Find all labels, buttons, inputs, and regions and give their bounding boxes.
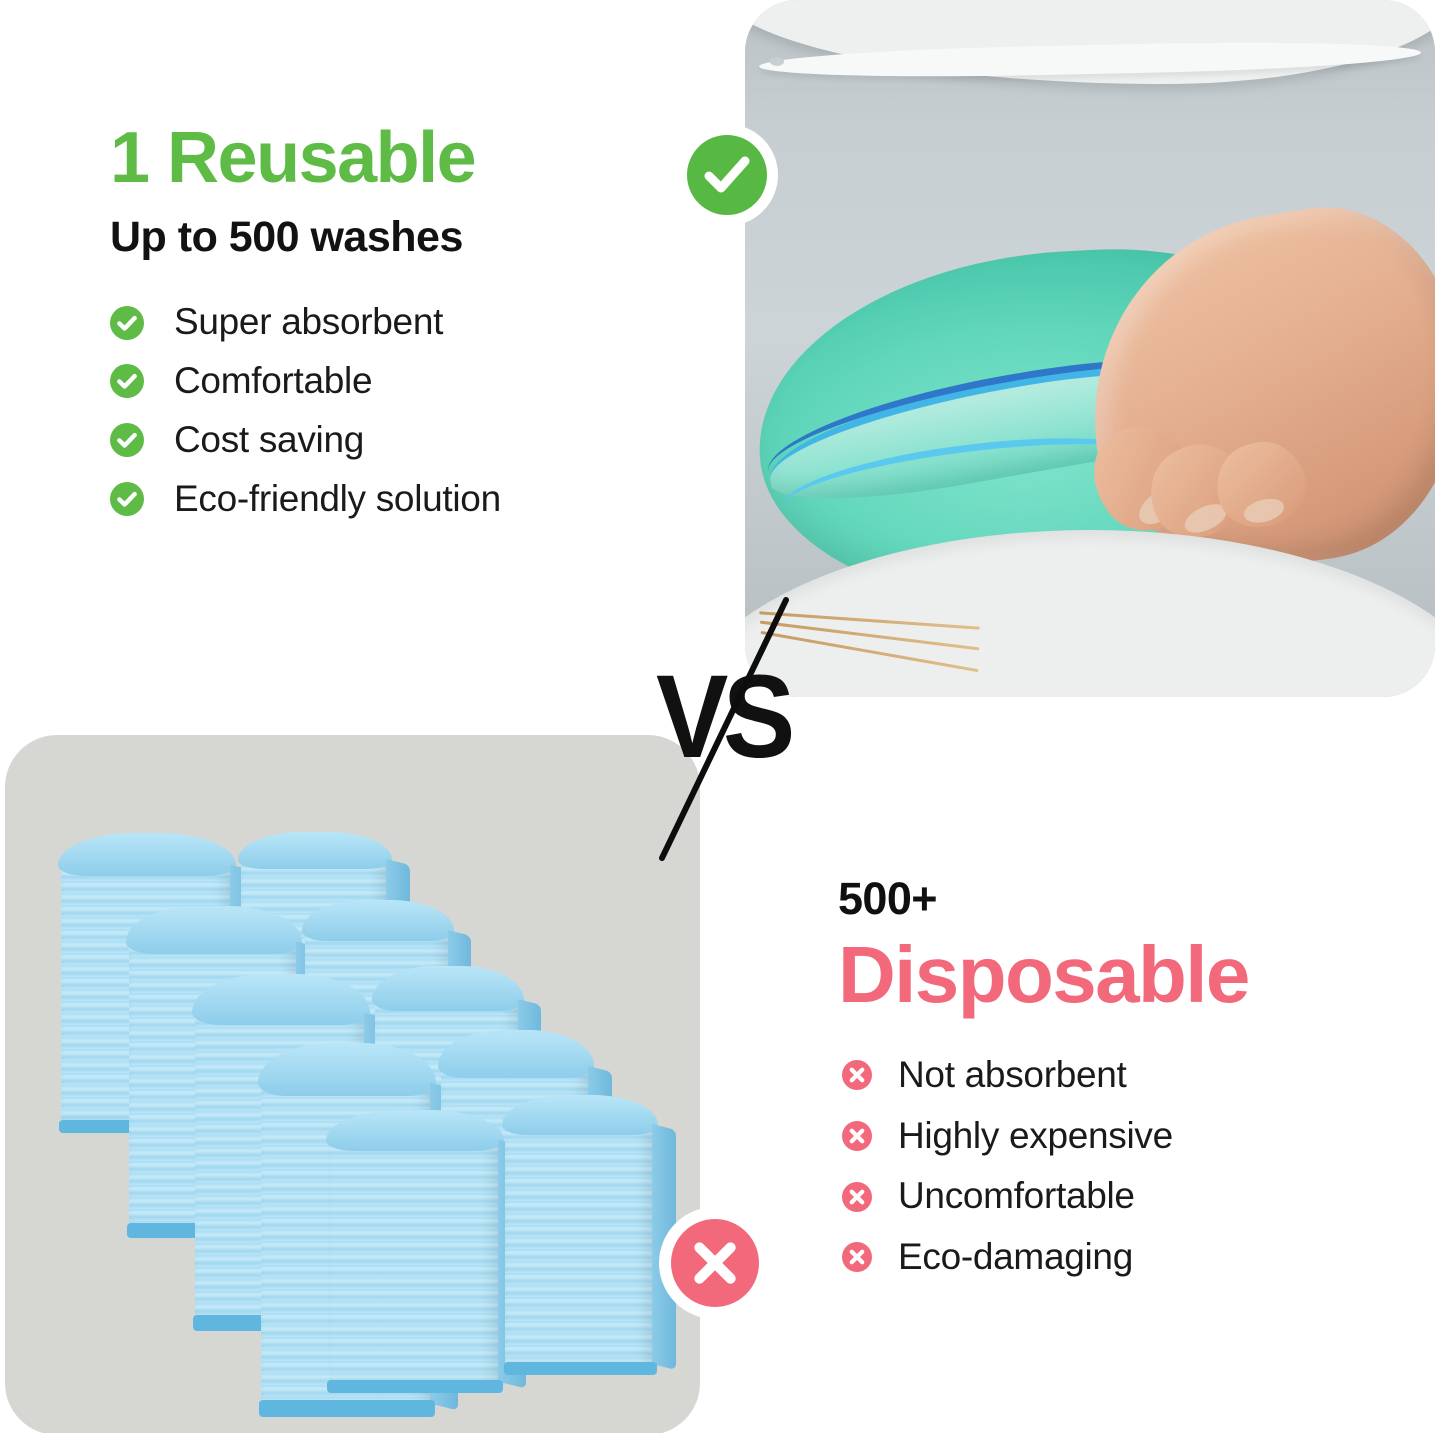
- disposable-count: 500+: [838, 876, 1398, 921]
- list-item: Eco-damaging: [842, 1237, 1398, 1278]
- pad-stack: [329, 1133, 501, 1385]
- list-item-label: Uncomfortable: [898, 1176, 1135, 1217]
- list-item: Highly expensive: [842, 1116, 1398, 1157]
- reusable-feature-list: Super absorbent Comfortable Cost saving …: [110, 302, 670, 519]
- list-item-label: Not absorbent: [898, 1055, 1127, 1096]
- disposable-drawback-list: Not absorbent Highly expensive Uncomfort…: [842, 1055, 1398, 1278]
- check-circle-icon: [110, 482, 144, 516]
- list-item-label: Eco-friendly solution: [174, 479, 501, 520]
- reusable-heading: 1 Reusable: [110, 122, 670, 195]
- check-circle-icon: [110, 423, 144, 457]
- disposable-heading: Disposable: [838, 933, 1398, 1017]
- check-circle-icon: [110, 306, 144, 340]
- list-item: Uncomfortable: [842, 1176, 1398, 1217]
- list-item-label: Cost saving: [174, 420, 364, 461]
- disposable-pads-photo: [5, 735, 700, 1433]
- x-circle-icon: [842, 1060, 872, 1090]
- x-circle-icon: [842, 1121, 872, 1151]
- close-icon: [684, 1232, 746, 1294]
- list-item-label: Comfortable: [174, 361, 372, 402]
- versus-mark: VS: [648, 590, 808, 870]
- comparison-infographic: 1 Reusable Up to 500 washes Super absorb…: [0, 0, 1445, 1433]
- list-item: Cost saving: [110, 420, 670, 461]
- x-circle-badge: [659, 1207, 771, 1319]
- list-item: Not absorbent: [842, 1055, 1398, 1096]
- pad-stack: [505, 1117, 655, 1367]
- list-item: Comfortable: [110, 361, 670, 402]
- x-circle-icon: [842, 1242, 872, 1272]
- versus-label: VS: [656, 658, 790, 776]
- washer-photo-scene: [745, 0, 1435, 697]
- reusable-section: 1 Reusable Up to 500 washes Super absorb…: [110, 122, 670, 537]
- check-circle-icon: [110, 364, 144, 398]
- list-item-label: Super absorbent: [174, 302, 443, 343]
- list-item-label: Highly expensive: [898, 1116, 1173, 1157]
- disposable-section: 500+ Disposable Not absorbent Highly exp…: [838, 876, 1398, 1298]
- x-circle-icon: [842, 1182, 872, 1212]
- list-item: Super absorbent: [110, 302, 670, 343]
- check-circle-badge: [676, 124, 778, 226]
- list-item-label: Eco-damaging: [898, 1237, 1133, 1278]
- fingernail-3: [1241, 495, 1286, 527]
- check-icon: [697, 145, 757, 205]
- reusable-subheading: Up to 500 washes: [110, 213, 670, 262]
- washer-photo: [745, 0, 1435, 697]
- washer-lid-knob: [770, 57, 784, 66]
- list-item: Eco-friendly solution: [110, 479, 670, 520]
